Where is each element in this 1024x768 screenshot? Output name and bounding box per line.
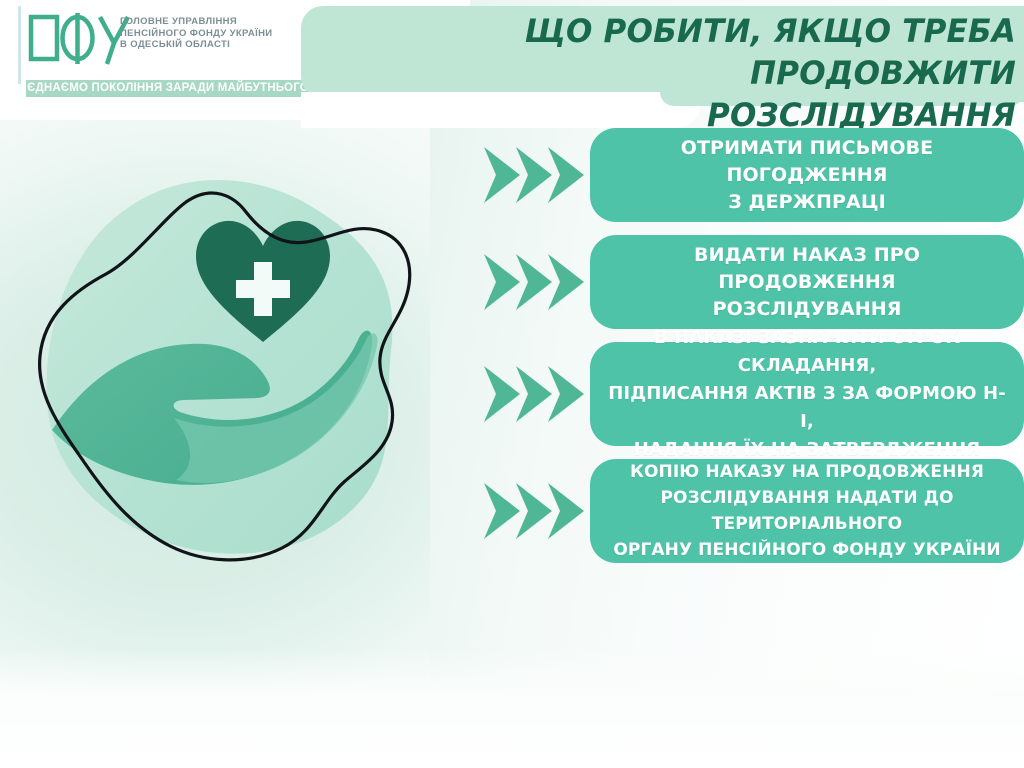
step-card: ОТРИМАТИ ПИСЬМОВЕ ПОГОДЖЕННЯ З ДЕРЖПРАЦІ xyxy=(590,128,1024,222)
triple-chevron-right-icon xyxy=(480,139,590,211)
step-row: ОТРИМАТИ ПИСЬМОВЕ ПОГОДЖЕННЯ З ДЕРЖПРАЦІ xyxy=(480,128,1024,222)
page-title: ЩО РОБИТИ, ЯКЩО ТРЕБА ПРОДОВЖИТИ РОЗСЛІД… xyxy=(331,10,1016,136)
brand-logo: ГОЛОВНЕ УПРАВЛІННЯ ПЕНСІЙНОГО ФОНДУ УКРА… xyxy=(18,6,308,100)
step-row: В НАКАЗІ ЗАЗНАЧИТИ СТРОК СКЛАДАННЯ, ПІДП… xyxy=(480,342,1024,446)
step-card: В НАКАЗІ ЗАЗНАЧИТИ СТРОК СКЛАДАННЯ, ПІДП… xyxy=(590,342,1024,446)
step-row: ВИДАТИ НАКАЗ ПРО ПРОДОВЖЕННЯ РОЗСЛІДУВАН… xyxy=(480,235,1024,329)
triple-chevron-right-icon xyxy=(480,358,590,430)
infographic-page: ГОЛОВНЕ УПРАВЛІННЯ ПЕНСІЙНОГО ФОНДУ УКРА… xyxy=(0,0,1024,768)
pfu-logo-mark xyxy=(26,8,132,68)
organization-name: ГОЛОВНЕ УПРАВЛІННЯ ПЕНСІЙНОГО ФОНДУ УКРА… xyxy=(120,16,272,51)
steps-list: ОТРИМАТИ ПИСЬМОВЕ ПОГОДЖЕННЯ З ДЕРЖПРАЦІ… xyxy=(480,128,1024,576)
triple-chevron-right-icon xyxy=(480,475,590,547)
step-card: КОПІЮ НАКАЗУ НА ПРОДОВЖЕННЯ РОЗСЛІДУВАНН… xyxy=(590,459,1024,563)
brand-tagline: ЄДНАЄМО ПОКОЛІННЯ ЗАРАДИ МАЙБУТНЬОГО xyxy=(26,80,310,97)
step-row: КОПІЮ НАКАЗУ НА ПРОДОВЖЕННЯ РОЗСЛІДУВАНН… xyxy=(480,459,1024,563)
logo-divider xyxy=(18,6,21,84)
hand-heart-illustration xyxy=(14,150,444,630)
step-card: ВИДАТИ НАКАЗ ПРО ПРОДОВЖЕННЯ РОЗСЛІДУВАН… xyxy=(590,235,1024,329)
bottom-fade xyxy=(0,648,1024,768)
triple-chevron-right-icon xyxy=(480,246,590,318)
